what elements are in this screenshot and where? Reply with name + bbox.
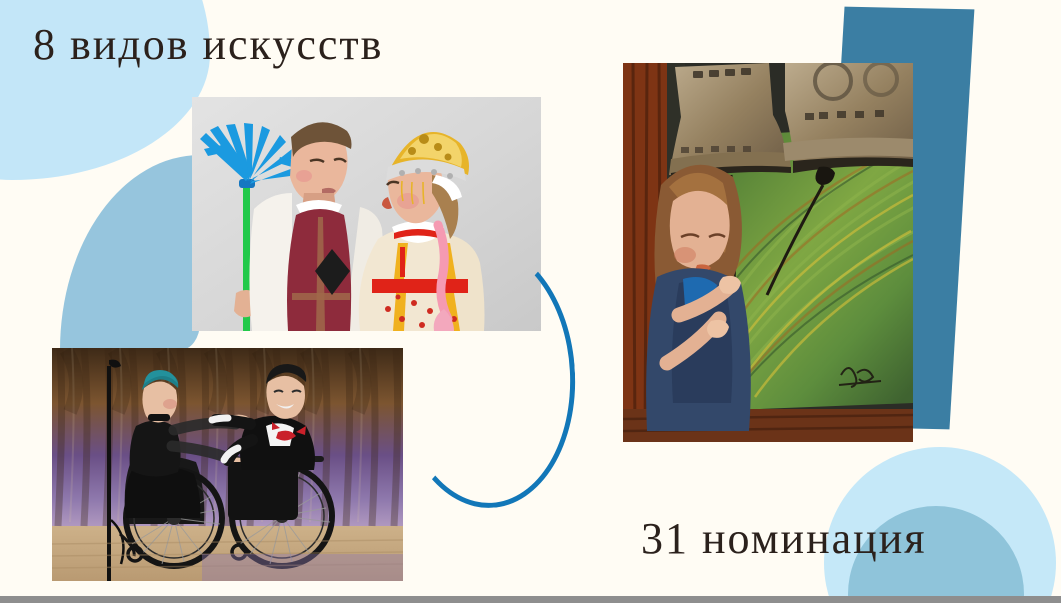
photo-bell-ringer-painting (623, 63, 913, 442)
page-title: 8 видов искусств (33, 19, 383, 70)
presentation-slide: 8 видов искусств 31 номинация (0, 0, 1061, 603)
steel-blue-blade-icon (60, 155, 200, 350)
photo-wheelchair-dance (52, 348, 403, 581)
nomination-count-label: 31 номинация (641, 513, 927, 564)
bottom-gray-bar (0, 596, 1061, 603)
